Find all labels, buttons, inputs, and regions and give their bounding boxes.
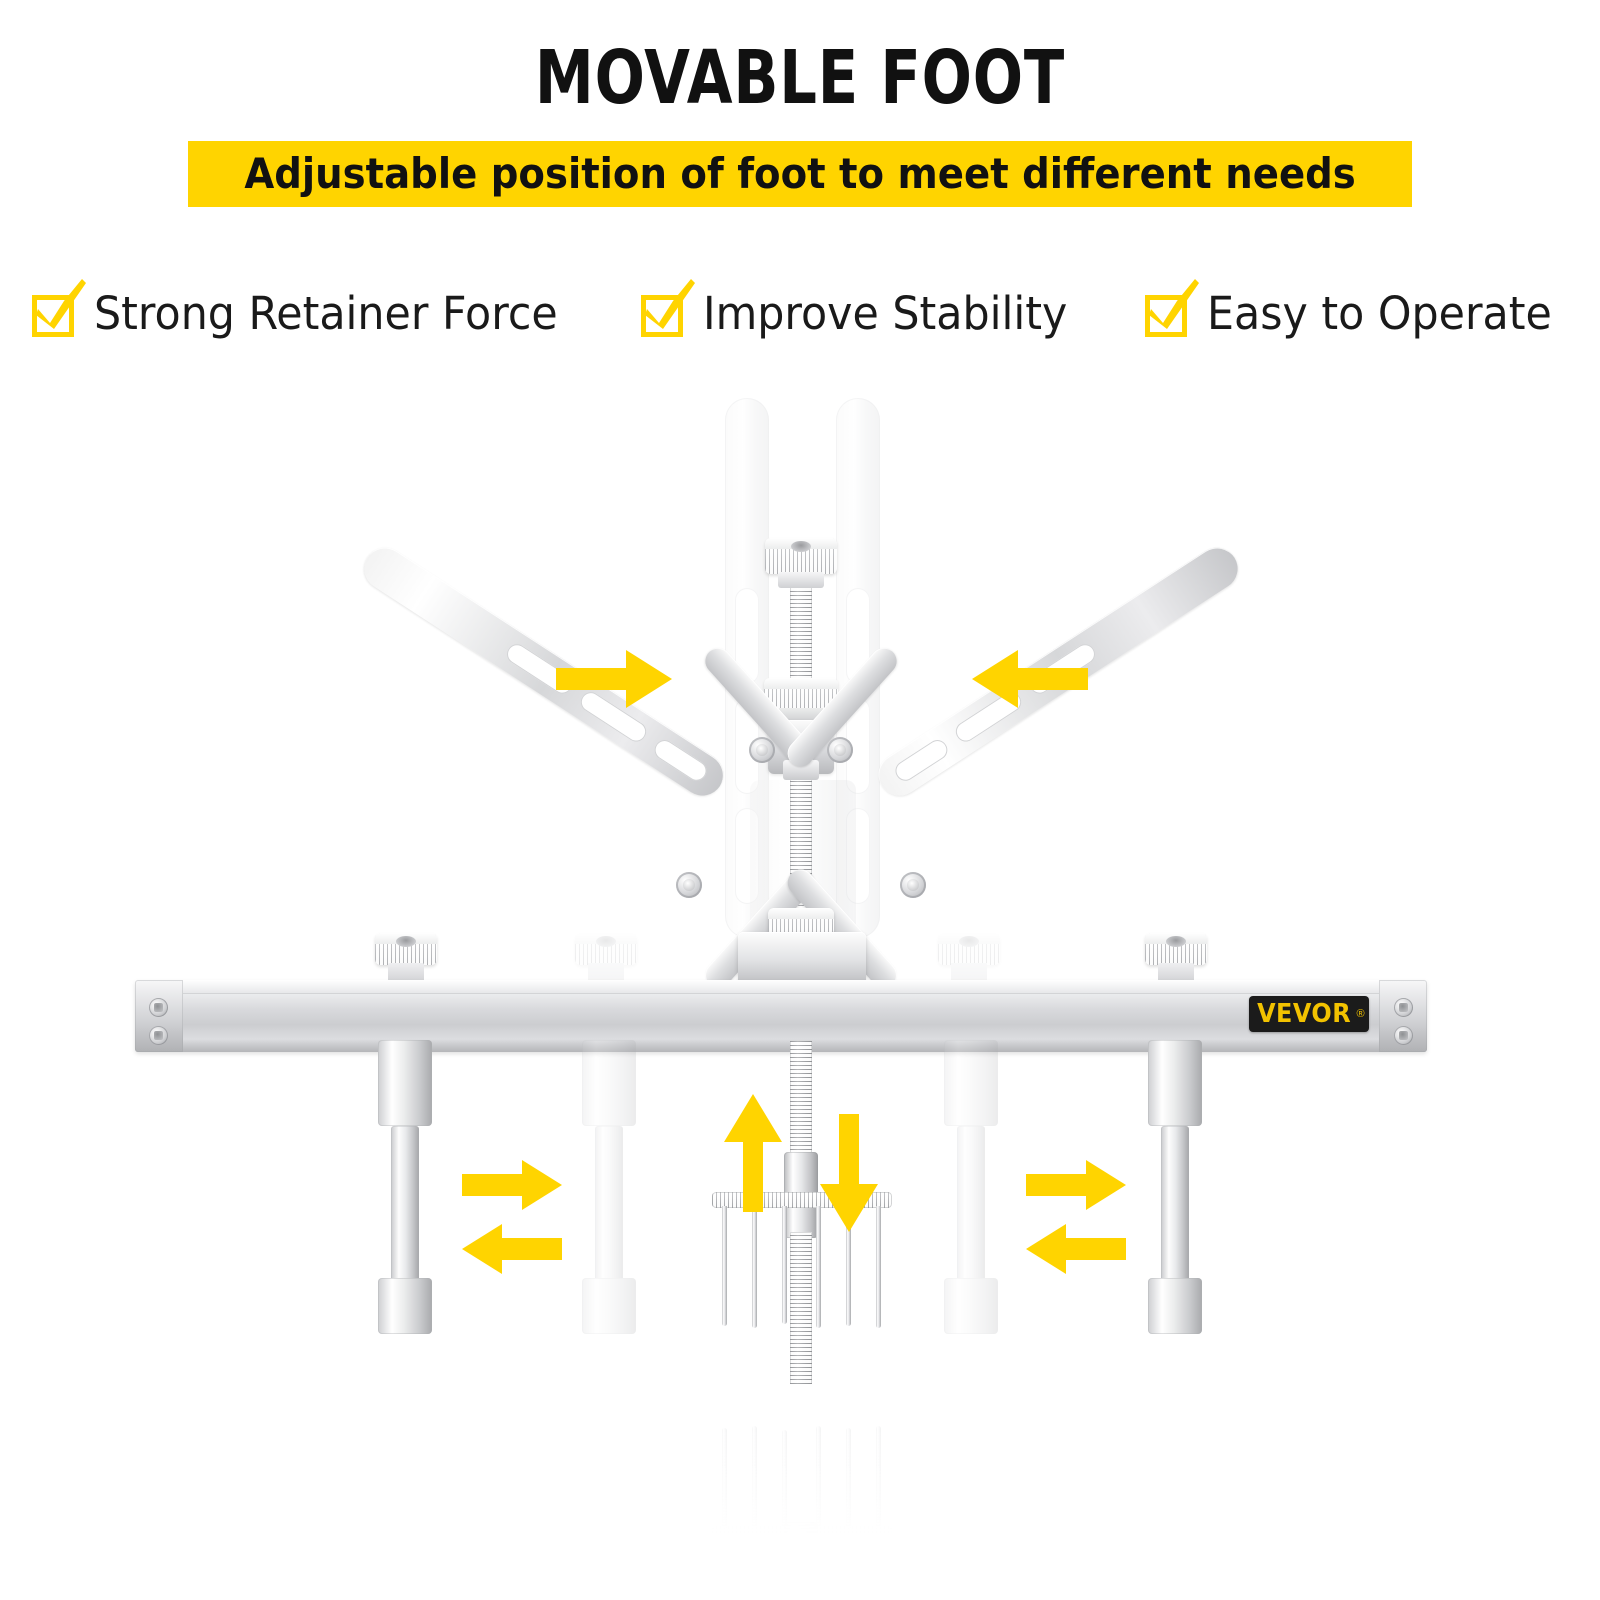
arrow-foot-right-out	[1026, 1158, 1126, 1212]
hammer-threaded-rod	[790, 1040, 812, 1158]
check-box-icon	[639, 289, 689, 339]
feature-list: Strong Retainer Force Improve Stability …	[30, 272, 1570, 356]
page-title: MOVABLE FOOT	[160, 38, 1440, 118]
adjustable-leg-1	[378, 1040, 432, 1340]
product-illustration: VEVOR®	[0, 380, 1600, 1600]
puller-pin-2	[752, 1206, 757, 1328]
adjustable-leg-4	[1148, 1040, 1202, 1340]
arrow-foot-left-out	[462, 1158, 562, 1212]
product-feature-image: MOVABLE FOOT Adjustable position of foot…	[0, 0, 1600, 1600]
check-box-icon	[30, 289, 80, 339]
feature-item-easy-to-operate: Easy to Operate	[1143, 289, 1570, 339]
bar-screw-right-bottom	[1394, 1026, 1413, 1045]
feature-label: Improve Stability	[703, 289, 1067, 339]
bar-screw-right-top	[1394, 998, 1413, 1017]
feature-label: Strong Retainer Force	[94, 289, 558, 339]
vevor-brand-badge: VEVOR®	[1249, 996, 1369, 1032]
subtitle-banner: Adjustable position of foot to meet diff…	[188, 141, 1412, 207]
pivot-mid-right	[900, 872, 926, 898]
check-mark-glyph	[30, 281, 90, 341]
arrow-hammer-down	[818, 1114, 880, 1232]
puller-pin-1	[722, 1206, 727, 1326]
bar-top-rail	[135, 980, 1427, 994]
bar-screw-left-top	[149, 998, 168, 1017]
pivot-upper-left	[749, 737, 775, 763]
top-knob-collar	[778, 572, 824, 588]
arrow-foot-right-in	[1026, 1222, 1126, 1276]
puller-pin-3	[782, 1206, 787, 1324]
vevor-wordmark: VEVOR	[1257, 1001, 1351, 1027]
subtitle-text: Adjustable position of foot to meet diff…	[244, 151, 1355, 197]
main-support-bar: VEVOR®	[135, 980, 1427, 1052]
arrow-arm-collapse-right	[972, 648, 1088, 710]
check-mark-glyph	[1143, 281, 1203, 341]
feature-item-improve-stability: Improve Stability	[639, 289, 1086, 339]
surface-reflection	[0, 1392, 1600, 1600]
pivot-mid-left	[676, 872, 702, 898]
check-mark-glyph	[639, 281, 699, 341]
arrow-arm-collapse-left	[556, 648, 672, 710]
bar-screw-left-bottom	[149, 1026, 168, 1045]
hammer-lower-rod	[790, 1232, 812, 1384]
arrow-hammer-up	[722, 1094, 784, 1212]
arrow-foot-left-in	[462, 1222, 562, 1276]
feature-label: Easy to Operate	[1207, 289, 1552, 339]
top-adjust-knob	[765, 538, 837, 574]
pivot-upper-right	[827, 737, 853, 763]
movable-arm-left	[356, 540, 731, 804]
feature-item-strong-retainer-force: Strong Retainer Force	[30, 289, 582, 339]
registered-mark-icon: ®	[1357, 1009, 1365, 1020]
check-box-icon	[1143, 289, 1193, 339]
